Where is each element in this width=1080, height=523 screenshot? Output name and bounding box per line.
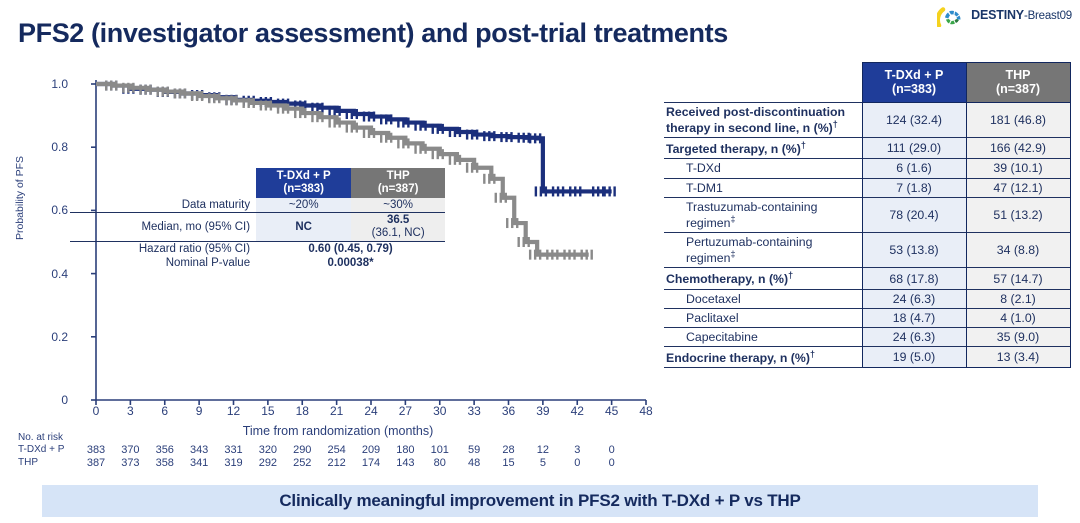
table-row: Endocrine therapy, n (%)†19 (5.0)13 (3.4… (664, 347, 1070, 368)
risk-value: 341 (190, 457, 208, 469)
risk-value: 143 (396, 457, 414, 469)
risk-value: 356 (156, 444, 174, 456)
row-label: Received post-discontinuation therapy in… (664, 102, 862, 137)
risk-value: 292 (259, 457, 277, 469)
risk-value: 343 (190, 444, 208, 456)
stats-label: Data maturity (70, 198, 256, 213)
risk-row-label: THP (18, 457, 38, 468)
value-thp: 166 (42.9) (966, 138, 1070, 159)
stats-label: Hazard ratio (95% CI) (70, 241, 256, 256)
value-tdxd: 68 (17.8) (862, 268, 966, 289)
value-thp: 47 (12.1) (966, 178, 1070, 197)
page-title: PFS2 (investigator assessment) and post-… (18, 18, 728, 49)
value-tdxd: 18 (4.7) (862, 308, 966, 327)
value-tdxd: 6 (1.6) (862, 159, 966, 178)
row-label: Pertuzumab-containing regimen‡ (664, 233, 862, 268)
value-tdxd: 24 (6.3) (862, 289, 966, 308)
row-label: Chemotherapy, n (%)† (664, 268, 862, 289)
stats-row-data-maturity: Data maturity ~20% ~30% (70, 198, 445, 213)
column-header-thp: THP (n=387) (966, 63, 1070, 103)
stats-value-b: 36.5 (36.1, NC) (351, 213, 445, 241)
stats-value-span: 0.00038* (256, 256, 445, 270)
value-thp: 51 (13.2) (966, 197, 1070, 232)
conclusion-banner: Clinically meaningful improvement in PFS… (42, 485, 1038, 517)
risk-value: 383 (87, 444, 105, 456)
table-row: T-DM17 (1.8)47 (12.1) (664, 178, 1070, 197)
value-thp: 39 (10.1) (966, 159, 1070, 178)
stats-col-header-tdxd: T-DXd + P (n=383) (256, 168, 351, 198)
header-blank (664, 63, 862, 103)
risk-value: 12 (537, 444, 549, 456)
row-label: Paclitaxel (664, 308, 862, 327)
value-thp: 4 (1.0) (966, 308, 1070, 327)
banner-text: Clinically meaningful improvement in PFS… (279, 491, 800, 511)
risk-value: 101 (431, 444, 449, 456)
value-thp: 35 (9.0) (966, 327, 1070, 346)
stats-row-hazard-ratio: Hazard ratio (95% CI) 0.60 (0.45, 0.79) (70, 241, 445, 256)
risk-value: 80 (434, 457, 446, 469)
destiny-breast09-logo: DESTINY-Breast09 (937, 3, 1072, 27)
risk-value: 174 (362, 457, 380, 469)
risk-value: 0 (574, 457, 580, 469)
statistics-summary-table: T-DXd + P (n=383) THP (n=387) Data matur… (70, 168, 445, 270)
row-label: Trastuzumab-containing regimen‡ (664, 197, 862, 232)
stats-row-p-value: Nominal P-value 0.00038* (70, 256, 445, 270)
stats-header-row: T-DXd + P (n=383) THP (n=387) (70, 168, 445, 198)
risk-value: 373 (121, 457, 139, 469)
stats-label: Median, mo (95% CI) (70, 213, 256, 241)
value-thp: 57 (14.7) (966, 268, 1070, 289)
risk-value: 15 (502, 457, 514, 469)
risk-value: 5 (540, 457, 546, 469)
risk-row-thp: THP 387373358341319292252212174143804815… (18, 457, 63, 470)
risk-value: 28 (502, 444, 514, 456)
value-thp: 181 (46.8) (966, 102, 1070, 137)
value-tdxd: 53 (13.8) (862, 233, 966, 268)
stats-value-a: NC (256, 213, 351, 241)
risk-value: 370 (121, 444, 139, 456)
stats-value-span: 0.60 (0.45, 0.79) (256, 241, 445, 256)
value-thp: 8 (2.1) (966, 289, 1070, 308)
stats-row-median: Median, mo (95% CI) NC 36.5 (36.1, NC) (70, 213, 445, 241)
table-row: Docetaxel24 (6.3)8 (2.1) (664, 289, 1070, 308)
column-header-tdxd: T-DXd + P (n=383) (862, 63, 966, 103)
table-row: T-DXd6 (1.6)39 (10.1) (664, 159, 1070, 178)
risk-value: 59 (468, 444, 480, 456)
stats-col-header-thp: THP (n=387) (351, 168, 445, 198)
risk-value: 212 (327, 457, 345, 469)
row-label: Docetaxel (664, 289, 862, 308)
value-thp: 13 (3.4) (966, 347, 1070, 368)
risk-value: 331 (224, 444, 242, 456)
row-label: Endocrine therapy, n (%)† (664, 347, 862, 368)
table-row: Pertuzumab-containing regimen‡53 (13.8)3… (664, 233, 1070, 268)
risk-value: 209 (362, 444, 380, 456)
value-thp: 34 (8.8) (966, 233, 1070, 268)
stats-value-b: ~30% (351, 198, 445, 213)
stats-value-a: ~20% (256, 198, 351, 213)
risk-value: 254 (327, 444, 345, 456)
data-table-header-row: T-DXd + P (n=383) THP (n=387) (664, 63, 1070, 103)
value-tdxd: 7 (1.8) (862, 178, 966, 197)
risk-value: 180 (396, 444, 414, 456)
row-label: T-DM1 (664, 178, 862, 197)
value-tdxd: 78 (20.4) (862, 197, 966, 232)
risk-value: 0 (609, 457, 615, 469)
logo-text: DESTINY-Breast09 (971, 8, 1072, 22)
row-label: Targeted therapy, n (%)† (664, 138, 862, 159)
table-row: Paclitaxel18 (4.7)4 (1.0) (664, 308, 1070, 327)
table-row: Received post-discontinuation therapy in… (664, 102, 1070, 137)
value-tdxd: 24 (6.3) (862, 327, 966, 346)
table-row: Chemotherapy, n (%)†68 (17.8)57 (14.7) (664, 268, 1070, 289)
table-row: Targeted therapy, n (%)†111 (29.0)166 (4… (664, 138, 1070, 159)
risk-row-tdxd: T-DXd + P 383370356343331320290254209180… (18, 444, 63, 457)
destiny-breast-logo-icon (937, 3, 967, 27)
post-trial-treatments-table: T-DXd + P (n=383) THP (n=387) Received p… (664, 62, 1070, 368)
x-axis-label: Time from randomization (months) (88, 424, 588, 438)
stats-label: Nominal P-value (70, 256, 256, 270)
risk-value: 320 (259, 444, 277, 456)
table-row: Capecitabine24 (6.3)35 (9.0) (664, 327, 1070, 346)
risk-value: 358 (156, 457, 174, 469)
value-tdxd: 111 (29.0) (862, 138, 966, 159)
risk-row-label: T-DXd + P (18, 444, 64, 455)
risk-value: 0 (609, 444, 615, 456)
slide: DESTINY-Breast09 PFS2 (investigator asse… (0, 0, 1080, 523)
kaplan-meier-chart: Probability of PFS 00.20.40.60.81.0 0369… (8, 72, 658, 472)
risk-value: 252 (293, 457, 311, 469)
table-row: Trastuzumab-containing regimen‡78 (20.4)… (664, 197, 1070, 232)
risk-value: 48 (468, 457, 480, 469)
risk-value: 290 (293, 444, 311, 456)
risk-table-title: No. at risk (18, 432, 63, 443)
risk-value: 3 (574, 444, 580, 456)
row-label: Capecitabine (664, 327, 862, 346)
risk-value: 319 (224, 457, 242, 469)
number-at-risk-table: No. at risk T-DXd + P 383370356343331320… (18, 432, 63, 470)
value-tdxd: 19 (5.0) (862, 347, 966, 368)
risk-value: 387 (87, 457, 105, 469)
value-tdxd: 124 (32.4) (862, 102, 966, 137)
row-label: T-DXd (664, 159, 862, 178)
